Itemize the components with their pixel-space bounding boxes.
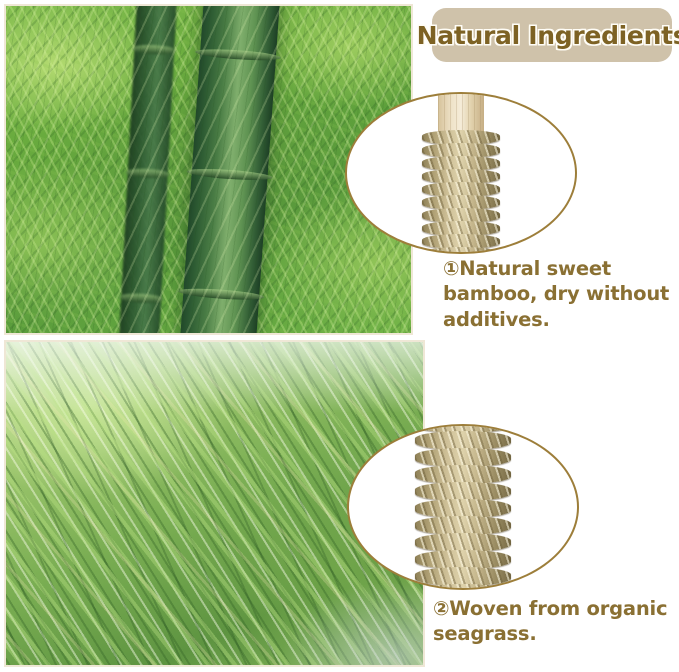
seagrass-weave-coil — [415, 584, 511, 590]
chew-stick-product — [422, 92, 500, 254]
seagrass-corner-shade — [281, 581, 423, 665]
seagrass-rope-coil — [422, 247, 500, 254]
bamboo-stick-closeup — [345, 92, 577, 254]
caption-item-two: ②Woven from organic seagrass. — [433, 596, 673, 647]
seagrass-weave-closeup — [347, 424, 579, 590]
caption-item-one: ①Natural sweet bamboo, dry without addit… — [443, 256, 671, 332]
infographic-canvas: Natural Ingredients — [0, 0, 679, 672]
seagrass-weave-product — [415, 424, 511, 590]
title-banner: Natural Ingredients — [432, 8, 672, 62]
seagrass-sky-highlight — [6, 342, 423, 413]
page-title: Natural Ingredients — [417, 21, 679, 50]
